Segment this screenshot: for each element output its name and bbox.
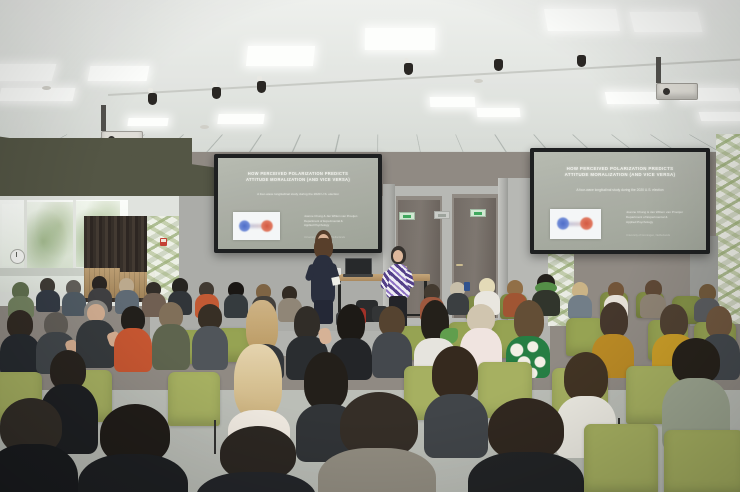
right-projection-screen: HOW PERCEIVED POLARIZATION PREDICTS ATTI… (530, 148, 710, 254)
smoke-detector (200, 125, 209, 129)
torso (36, 290, 60, 312)
exit-sign (434, 211, 450, 219)
track-spotlight (257, 76, 262, 81)
left-projection-screen: HOW PERCEIVED POLARIZATION PREDICTS ATTI… (214, 154, 382, 253)
torso (152, 324, 190, 370)
track-spotlight (148, 88, 153, 93)
conference-room-photo: HOW PERCEIVED POLARIZATION PREDICTS ATTI… (0, 0, 740, 492)
phone-held-up (464, 282, 470, 291)
audience-member-foreground (468, 398, 584, 492)
audience-member-foreground (0, 398, 78, 492)
slide-title-line1: HOW PERCEIVED POLARIZATION PREDICTS (234, 171, 362, 177)
ceiling-projector-right (656, 57, 661, 83)
audience-member (114, 306, 152, 368)
ceiling-panel-light (605, 92, 660, 104)
hair (564, 352, 608, 402)
hair (337, 304, 365, 342)
audience-member-foreground (196, 426, 316, 492)
torso (196, 472, 316, 492)
exit-sign (399, 212, 415, 220)
slide-title-line2: ATTITUDE MORALIZATION (AND VICE VERSA) (551, 172, 689, 178)
audience-member (36, 278, 60, 310)
ceiling-panel-light (0, 64, 56, 81)
torso (0, 444, 78, 492)
hair (294, 306, 320, 340)
figure-blue-shape (239, 220, 250, 232)
ceiling-panel-light (699, 112, 740, 121)
slide-affiliation-right: University of Groningen, Netherlands (626, 234, 670, 238)
slide-authors-right: Joanne Chung & Jan Willem van Prooijen D… (626, 210, 683, 224)
ceiling-panel-light (630, 12, 703, 32)
hair (600, 302, 628, 338)
hair (514, 300, 544, 340)
hair (234, 344, 282, 418)
torso (192, 326, 228, 370)
ceiling-panel-light (365, 28, 435, 50)
ceiling-panel-light (477, 108, 521, 117)
ceiling-panel-light (544, 9, 620, 31)
track-spotlight (212, 82, 217, 87)
hair (432, 346, 478, 400)
ceiling-projector-left (101, 105, 106, 131)
author-line-3: Applied Psychology (626, 220, 683, 225)
window-pane-foliage (27, 202, 73, 268)
author-line-1: Joanne Chung & Jan Willem van Prooijen (304, 214, 357, 219)
smoke-detector (474, 79, 483, 83)
audience-member (568, 282, 592, 316)
fire-alarm-call-point (160, 238, 167, 246)
audience-member-foreground (78, 404, 188, 492)
hair (660, 304, 688, 338)
presenter-laptop-base[interactable] (343, 274, 373, 277)
slide-title-line2: ATTITUDE MORALIZATION (AND VICE VERSA) (234, 177, 362, 183)
ceiling-panel-light (88, 66, 150, 81)
slide-figure-left (233, 212, 280, 240)
ceiling-panel-light (217, 114, 264, 124)
slide-title-right: HOW PERCEIVED POLARIZATION PREDICTS ATTI… (551, 166, 689, 178)
wall-clock (10, 249, 25, 264)
ceiling-panel-light (127, 118, 168, 126)
track-spotlight (404, 58, 409, 63)
presenter-papers (331, 276, 340, 285)
figure-red-shape (261, 220, 273, 232)
figure-red-shape (580, 217, 593, 230)
lighting-track (108, 58, 740, 96)
door-handle[interactable] (456, 264, 463, 266)
window-mullion (73, 200, 76, 270)
window-mullion (24, 200, 27, 270)
chair[interactable] (584, 424, 658, 492)
presenter-head (393, 250, 403, 262)
figure-blue-shape (557, 217, 569, 230)
smoke-detector (42, 86, 51, 90)
exit-sign (470, 209, 486, 217)
audience-member (372, 306, 412, 376)
ceiling (0, 0, 740, 152)
track-spotlight (494, 54, 499, 59)
slide-subtitle-left: A four-wave longitudinal study during th… (237, 192, 359, 196)
slide-authors-left: Joanne Chung & Jan Willem van Prooijen D… (304, 214, 357, 228)
right-screen-surface: HOW PERCEIVED POLARIZATION PREDICTS ATTI… (534, 152, 706, 250)
ceiling-panel-light (0, 88, 76, 101)
audience-member (152, 302, 190, 366)
torso (568, 295, 592, 319)
slide-title-left: HOW PERCEIVED POLARIZATION PREDICTS ATTI… (234, 171, 362, 182)
slide-figure-right (550, 209, 601, 239)
audience-member (192, 304, 228, 366)
torso (318, 448, 436, 492)
slide-subtitle-right: A four-wave longitudinal study during th… (555, 188, 686, 192)
audience-member (0, 310, 40, 370)
hair (488, 398, 564, 460)
ceiling-panel-light (430, 97, 476, 107)
chair[interactable] (664, 430, 740, 492)
author-line-3: Applied Psychology (304, 223, 357, 228)
torso (0, 334, 40, 376)
audience-member-foreground (318, 392, 436, 492)
torso (78, 454, 188, 492)
torso (114, 328, 152, 372)
left-screen-surface: HOW PERCEIVED POLARIZATION PREDICTS ATTI… (218, 158, 378, 249)
torso (468, 452, 584, 492)
track-spotlight (577, 50, 582, 55)
ceiling-panel-light (246, 46, 315, 66)
